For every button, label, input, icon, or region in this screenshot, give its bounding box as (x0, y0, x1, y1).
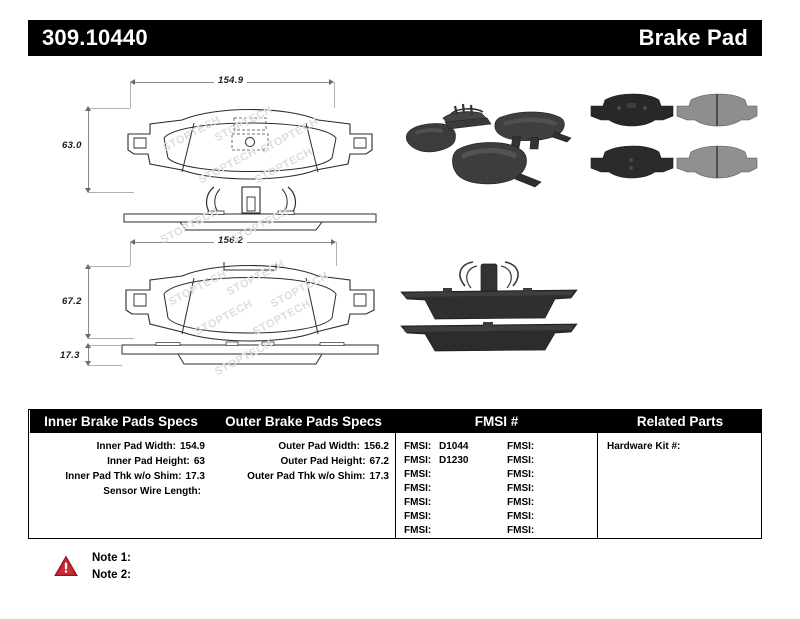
fmsi-row: FMSI: (507, 511, 539, 522)
notes-section: Note 1: Note 2: (46, 552, 346, 592)
fmsi-label: FMSI: (404, 525, 431, 536)
hardware-kit-label: Hardware Kit #: (607, 441, 680, 452)
fmsi-row: FMSI: (507, 483, 539, 494)
part-number: 309.10440 (42, 25, 148, 51)
note-1: Note 1: (92, 552, 131, 564)
spec-label: Inner Pad Width: (97, 441, 176, 452)
outer-height-dimension: 67.2 (62, 296, 82, 307)
fmsi-row: FMSI: (507, 455, 539, 466)
fmsi-value (534, 511, 539, 522)
outer-width-dimension: 156.2 (214, 235, 247, 246)
fmsi-row: FMSI: D1044 (404, 441, 468, 452)
fmsi-row: FMSI: (404, 483, 436, 494)
spec-label: Sensor Wire Length: (103, 486, 201, 497)
fmsi-label: FMSI: (404, 441, 431, 452)
inner-width-dimension: 154.9 (214, 75, 247, 86)
header-bar: 309.10440 Brake Pad (28, 20, 762, 56)
fmsi-value (431, 497, 436, 508)
fmsi-value (534, 483, 539, 494)
fmsi-label: FMSI: (404, 455, 431, 466)
fmsi-value (534, 455, 539, 466)
spec-label: Inner Pad Thk w/o Shim: (65, 471, 181, 482)
spec-label: Outer Pad Thk w/o Shim: (247, 471, 365, 482)
fmsi-value (534, 497, 539, 508)
warning-triangle-icon (54, 555, 78, 577)
fmsi-row: FMSI: (404, 525, 436, 536)
fmsi-value (534, 525, 539, 536)
fmsi-row: FMSI: (404, 511, 436, 522)
spec-value: 156.2 (360, 441, 389, 452)
column-header-outer-specs: Outer Brake Pads Specs (212, 410, 395, 433)
fmsi-value (534, 441, 539, 452)
hardware-kit-value (680, 441, 685, 452)
spec-row-outer: Outer Pad Thk w/o Shim:17.3 (213, 471, 389, 482)
fmsi-label: FMSI: (507, 497, 534, 508)
outer-pad-edge-drawing (120, 340, 380, 370)
spec-row-outer: Outer Pad Height:67.2 (213, 456, 389, 467)
spec-row-outer: Outer Pad Width:156.2 (213, 441, 389, 452)
spec-value: 67.2 (366, 456, 389, 467)
spec-value: 154.9 (176, 441, 205, 452)
column-header-related-parts: Related Parts (598, 410, 762, 433)
fmsi-label: FMSI: (507, 483, 534, 494)
spec-label: Outer Pad Height: (281, 456, 366, 467)
spec-row-inner: Sensor Wire Length: (29, 486, 205, 497)
related-parts-row: Hardware Kit #: (607, 441, 685, 452)
fmsi-row: FMSI: (507, 525, 539, 536)
photo-brake-pads-angled-group (395, 88, 580, 196)
spec-row-inner: Inner Pad Height:63 (29, 456, 205, 467)
fmsi-row: FMSI: (404, 497, 436, 508)
inner-pad-edge-drawing (120, 210, 380, 238)
product-type: Brake Pad (639, 25, 748, 51)
fmsi-value: D1044 (434, 441, 468, 452)
inner-height-dimension: 63.0 (62, 140, 82, 151)
photo-brake-pads-front-back-grid (585, 90, 760, 196)
fmsi-value (431, 469, 436, 480)
spec-row-inner: Inner Pad Width:154.9 (29, 441, 205, 452)
fmsi-label: FMSI: (507, 469, 534, 480)
fmsi-label: FMSI: (507, 511, 534, 522)
column-header-inner-specs: Inner Brake Pads Specs (30, 410, 212, 433)
spec-value: 17.3 (366, 471, 389, 482)
fmsi-row: FMSI: (404, 469, 436, 480)
fmsi-value (431, 483, 436, 494)
fmsi-label: FMSI: (404, 497, 431, 508)
fmsi-label: FMSI: (507, 525, 534, 536)
fmsi-label: FMSI: (404, 469, 431, 480)
fmsi-value (534, 469, 539, 480)
note-2: Note 2: (92, 569, 131, 581)
fmsi-label: FMSI: (404, 511, 431, 522)
fmsi-row: FMSI: (507, 497, 539, 508)
thickness-dimension: 17.3 (60, 350, 80, 361)
fmsi-label: FMSI: (404, 483, 431, 494)
fmsi-row: FMSI: D1230 (404, 455, 468, 466)
fmsi-value (431, 525, 436, 536)
fmsi-row: FMSI: (507, 469, 539, 480)
fmsi-value: D1230 (434, 455, 468, 466)
fmsi-label: FMSI: (507, 455, 534, 466)
column-header-fmsi: FMSI # (396, 410, 597, 433)
spec-label: Outer Pad Width: (278, 441, 360, 452)
fmsi-label: FMSI: (507, 441, 534, 452)
spec-value: 63 (190, 456, 205, 467)
spec-row-inner: Inner Pad Thk w/o Shim:17.3 (29, 471, 205, 482)
spec-label: Inner Pad Height: (107, 456, 190, 467)
photo-brake-pads-edge-pair-with-clips (395, 252, 580, 360)
specification-table: Inner Brake Pads Specs Outer Brake Pads … (28, 409, 762, 539)
spec-value: 17.3 (182, 471, 205, 482)
technical-drawings: 154.9 63.0 156.2 67.2 17.3 STOPTECH STOP… (0, 60, 800, 395)
fmsi-row: FMSI: (507, 441, 539, 452)
fmsi-value (431, 511, 436, 522)
